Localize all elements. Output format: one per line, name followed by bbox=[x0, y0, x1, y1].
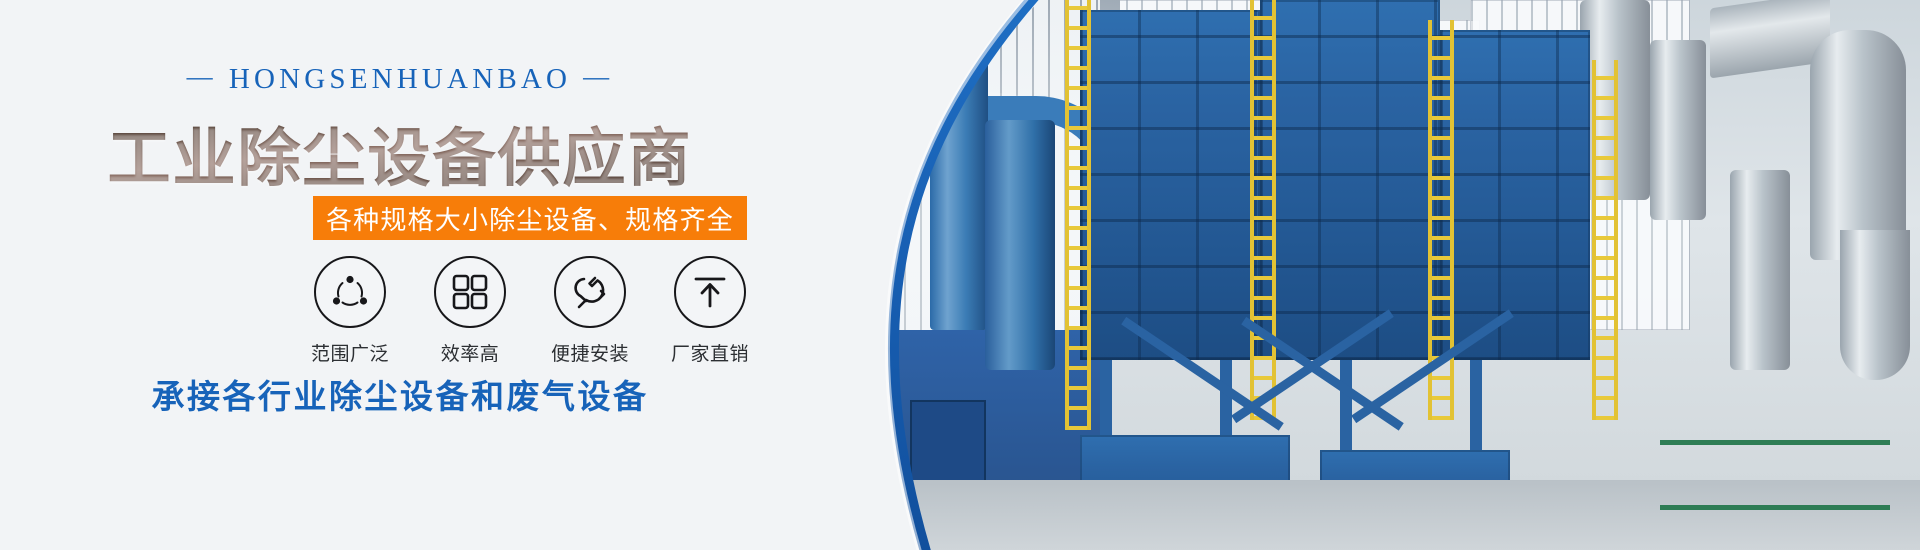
feature-label: 效率高 bbox=[420, 339, 520, 366]
baghouse-module bbox=[1260, 0, 1440, 360]
green-handrail bbox=[1660, 440, 1890, 510]
feature-icon-row: 范围广泛 效率高 bbox=[300, 256, 760, 366]
baghouse-panel-grid bbox=[1080, 10, 1260, 360]
yellow-ladder bbox=[1065, 0, 1091, 430]
feature-label: 厂家直销 bbox=[660, 339, 760, 366]
baghouse-module bbox=[1440, 30, 1590, 360]
feature-circle bbox=[674, 256, 746, 328]
feature-item-range[interactable]: 范围广泛 bbox=[300, 256, 400, 366]
wrench-icon bbox=[570, 272, 610, 312]
eyebrow-text: HONGSENHUANBAO bbox=[229, 63, 571, 95]
headline-title: 工业除尘设备供应商 bbox=[0, 108, 800, 199]
feature-circle bbox=[434, 256, 506, 328]
feature-item-efficiency[interactable]: 效率高 bbox=[420, 256, 520, 366]
silver-duct bbox=[1730, 170, 1790, 370]
bottom-tagline: 承接各行业除尘设备和废气设备 bbox=[0, 370, 800, 418]
network-nodes-icon bbox=[330, 272, 370, 312]
silver-cyclone bbox=[1810, 30, 1906, 260]
blue-stack bbox=[985, 120, 1055, 370]
arrow-up-bar-icon bbox=[691, 273, 729, 311]
feature-circle bbox=[554, 256, 626, 328]
eyebrow-dash-left: — bbox=[175, 62, 229, 92]
yellow-ladder bbox=[1250, 0, 1276, 420]
orange-subtitle-text: 各种规格大小除尘设备、规格齐全 bbox=[326, 200, 734, 237]
blue-stack bbox=[930, 0, 988, 330]
baghouse-panel-grid bbox=[1440, 30, 1590, 360]
orange-subtitle-bar: 各种规格大小除尘设备、规格齐全 bbox=[313, 196, 747, 240]
feature-label: 范围广泛 bbox=[300, 339, 400, 366]
feature-item-install[interactable]: 便捷安装 bbox=[540, 256, 640, 366]
dust-collector-plant-photo bbox=[780, 0, 1920, 550]
banner-content: —HONGSENHUANBAO— 工业除尘设备供应商 各种规格大小除尘设备、规格… bbox=[0, 0, 860, 550]
feature-circle bbox=[314, 256, 386, 328]
feature-item-factory-direct[interactable]: 厂家直销 bbox=[660, 256, 760, 366]
baghouse-module bbox=[1080, 10, 1260, 360]
silver-duct bbox=[1650, 40, 1706, 220]
silver-hopper bbox=[1840, 230, 1910, 380]
brand-eyebrow: —HONGSENHUANBAO— bbox=[0, 62, 800, 96]
hero-banner: 除尘器 bbox=[0, 0, 1920, 550]
baghouse-panel-grid bbox=[1260, 0, 1440, 360]
eyebrow-dash-right: — bbox=[571, 62, 625, 92]
grid-squares-icon bbox=[451, 273, 489, 311]
feature-label: 便捷安装 bbox=[540, 339, 640, 366]
yellow-ladder bbox=[1592, 60, 1618, 420]
